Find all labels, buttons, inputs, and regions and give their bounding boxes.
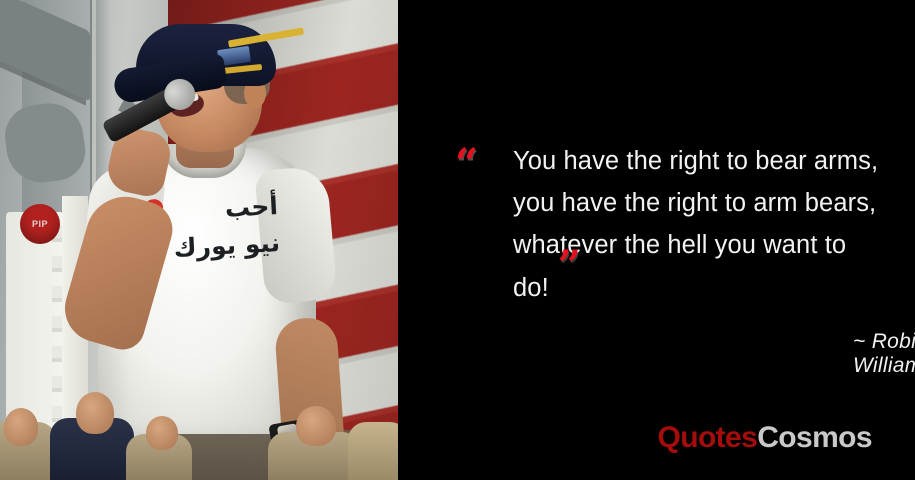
- audience-body: [348, 422, 398, 480]
- open-quote-icon: “: [455, 144, 476, 184]
- quote-block: “ You have the right to bear arms, you h…: [455, 140, 885, 309]
- quote-card: PIP أحب نيو يورك: [0, 0, 915, 480]
- quote-text: You have the right to bear arms, you hav…: [513, 140, 885, 309]
- quote-panel: “ You have the right to bear arms, you h…: [398, 0, 915, 480]
- quotescosmos-logo[interactable]: QuotesCosmos: [657, 421, 872, 455]
- audience: [0, 372, 398, 480]
- photo-scene: PIP أحب نيو يورك: [0, 0, 398, 480]
- audience-head: [146, 416, 178, 450]
- quote-attribution: ~ Robin Williams: [853, 330, 915, 378]
- audience-head: [4, 408, 38, 446]
- logo-quotes-text: Quotes: [657, 421, 757, 454]
- tshirt-arabic-line-1: أحب: [167, 193, 278, 224]
- cap-gold-lettering-2: [222, 64, 262, 74]
- quote-photo: PIP أحب نيو يورك: [0, 0, 398, 480]
- red-sign-label: PIP: [20, 204, 60, 244]
- red-circular-sign: PIP: [20, 204, 60, 244]
- audience-head: [296, 406, 336, 446]
- cap-gold-lettering: [228, 27, 304, 47]
- audience-head: [76, 392, 114, 434]
- logo-cosmos-text: Cosmos: [757, 421, 872, 454]
